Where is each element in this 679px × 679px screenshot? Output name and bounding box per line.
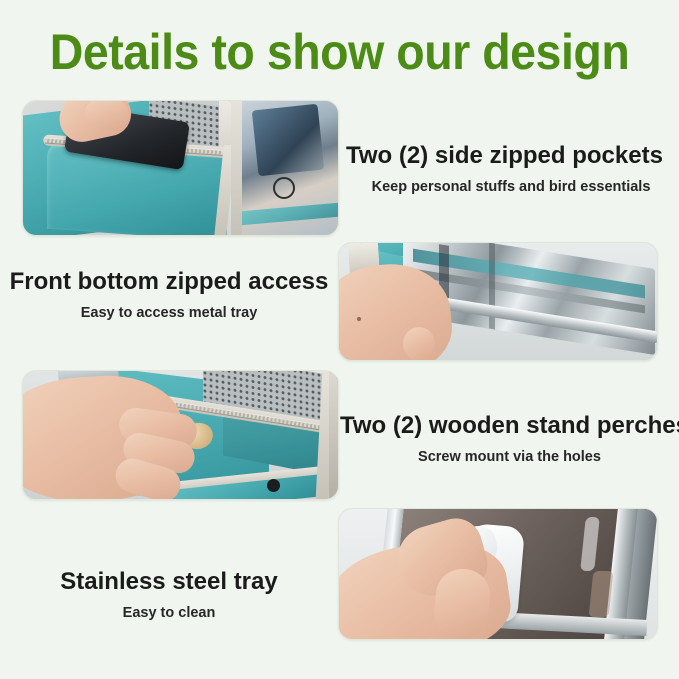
- feature-photo-stainless-steel-tray: [338, 508, 658, 640]
- caption-subtext: Screw mount via the holes: [340, 447, 679, 467]
- caption-heading: Stainless steel tray: [0, 568, 338, 596]
- caption-heading: Two (2) side zipped pockets: [346, 142, 676, 170]
- caption-front-bottom-zipped-access: Front bottom zipped access Easy to acces…: [0, 268, 338, 323]
- feature-photo-wooden-stand-perches: [22, 370, 339, 500]
- page-title: Details to show our design: [24, 24, 655, 80]
- feature-photo-side-zipped-pockets: [22, 100, 339, 236]
- caption-heading: Two (2) wooden stand perches: [340, 412, 679, 440]
- caption-subtext: Easy to clean: [0, 603, 338, 623]
- caption-heading: Front bottom zipped access: [0, 268, 338, 296]
- caption-side-zipped-pockets: Two (2) side zipped pockets Keep persona…: [346, 142, 676, 197]
- caption-subtext: Keep personal stuffs and bird essentials: [346, 177, 676, 197]
- feature-photo-front-bottom-zipped-access: [338, 242, 658, 361]
- caption-stainless-steel-tray: Stainless steel tray Easy to clean: [0, 568, 338, 623]
- caption-wooden-stand-perches: Two (2) wooden stand perches Screw mount…: [340, 412, 679, 467]
- caption-subtext: Easy to access metal tray: [0, 303, 338, 323]
